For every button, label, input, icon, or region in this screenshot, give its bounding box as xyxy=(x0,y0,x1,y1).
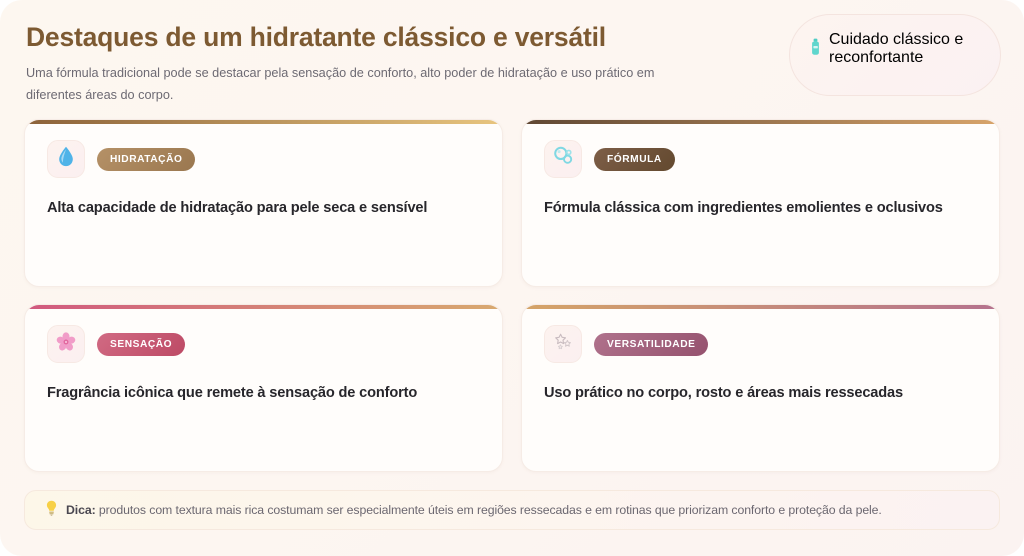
sparkles-icon xyxy=(553,332,573,357)
header-badge: Cuidado clássico e reconfortante xyxy=(789,14,1001,96)
card-title: Fragrância icônica que remete à sensação… xyxy=(47,384,480,404)
page-header: Destaques de um hidratante clássico e ve… xyxy=(24,22,1000,110)
card-header: FÓRMULA xyxy=(544,140,977,178)
feature-card-grid: HIDRATAÇÃO Alta capacidade de hidratação… xyxy=(24,119,1000,472)
tip-body: produtos com textura mais rica costumam … xyxy=(96,503,882,517)
feature-card-formula[interactable]: FÓRMULA Fórmula clássica com ingrediente… xyxy=(521,119,1000,287)
page-subtitle: Uma fórmula tradicional pode se destacar… xyxy=(24,63,692,107)
card-header: SENSAÇÃO xyxy=(47,325,480,363)
header-badge-content: Cuidado clássico e reconfortante xyxy=(790,15,1000,67)
card-category-pill: HIDRATAÇÃO xyxy=(97,148,195,171)
card-accent-bar xyxy=(25,305,502,309)
feature-card-sensacao[interactable]: SENSAÇÃO Fragrância icônica que remete à… xyxy=(24,304,503,472)
cherry-blossom-icon xyxy=(56,332,76,357)
tip-bar: Dica: produtos com textura mais rica cos… xyxy=(24,490,1000,530)
card-header: VERSATILIDADE xyxy=(544,325,977,363)
card-title: Alta capacidade de hidratação para pele … xyxy=(47,199,480,219)
icon-tile xyxy=(544,325,582,363)
card-category-pill: FÓRMULA xyxy=(594,148,675,171)
bubbles-icon xyxy=(553,146,574,172)
icon-tile xyxy=(47,325,85,363)
icon-tile xyxy=(47,140,85,178)
card-title: Uso prático no corpo, rosto e áreas mais… xyxy=(544,384,977,404)
card-category-pill: VERSATILIDADE xyxy=(594,333,708,356)
card-category-pill: SENSAÇÃO xyxy=(97,333,185,356)
feature-card-hidratacao[interactable]: HIDRATAÇÃO Alta capacidade de hidratação… xyxy=(24,119,503,287)
tip-label: Dica: xyxy=(66,503,96,517)
card-accent-bar xyxy=(25,120,502,124)
card-accent-bar xyxy=(522,305,999,309)
water-droplet-icon xyxy=(58,146,74,172)
tip-text: Dica: produtos com textura mais rica cos… xyxy=(66,503,882,517)
lightbulb-icon xyxy=(45,500,58,521)
card-accent-bar xyxy=(522,120,999,124)
highlights-page: Destaques de um hidratante clássico e ve… xyxy=(0,0,1024,556)
card-title: Fórmula clássica com ingredientes emolie… xyxy=(544,199,977,219)
card-header: HIDRATAÇÃO xyxy=(47,140,480,178)
feature-card-versatilidade[interactable]: VERSATILIDADE Uso prático no corpo, rost… xyxy=(521,304,1000,472)
icon-tile xyxy=(544,140,582,178)
bottle-icon xyxy=(809,38,822,60)
header-badge-label: Cuidado clássico e reconfortante xyxy=(829,31,1000,67)
